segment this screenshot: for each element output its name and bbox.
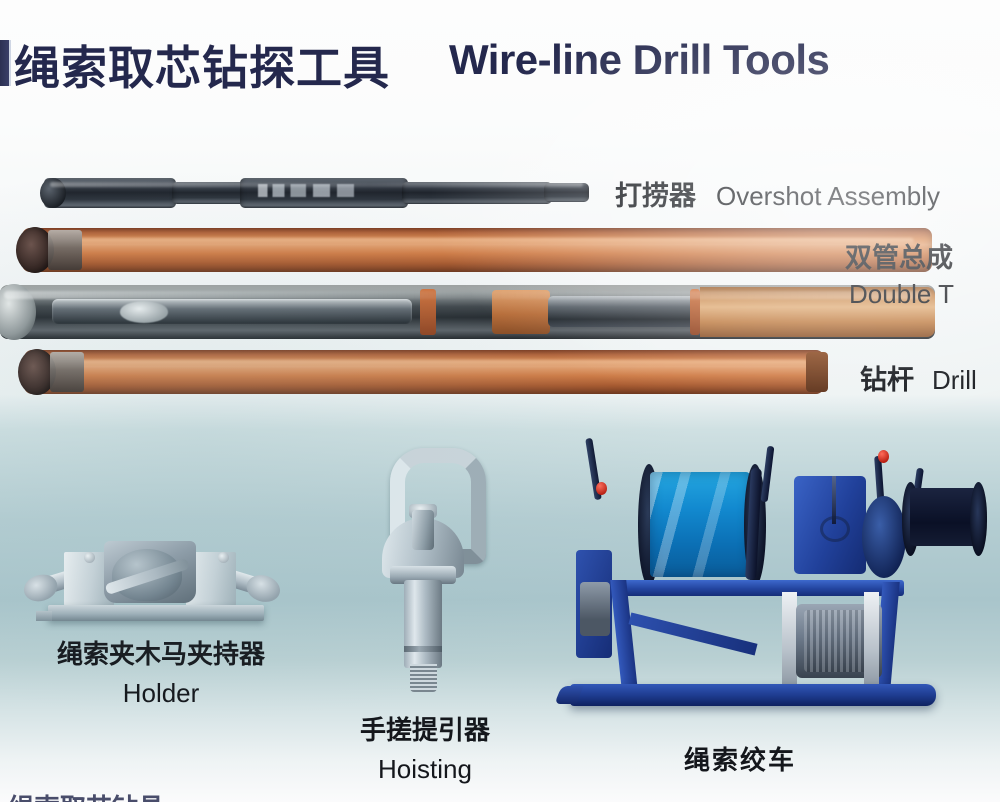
label-overshot-chinese: 打捞器 bbox=[615, 181, 696, 212]
label-hoisting-chinese: 手搓提引器 bbox=[330, 710, 520, 747]
hoisting-swivel-photo bbox=[368, 448, 478, 694]
label-overshot-assembly: 打捞器Overshot Assembly bbox=[615, 174, 940, 213]
label-drill-rod: 钻杆Drill bbox=[860, 358, 977, 397]
label-double-tube-english: Double T bbox=[849, 279, 954, 310]
label-double-tube: 双管总成 Double T bbox=[845, 236, 954, 310]
label-hoisting: 手搓提引器 Hoisting bbox=[330, 710, 520, 785]
label-drill-rod-english: Drill bbox=[932, 365, 977, 395]
title-accent-bar bbox=[0, 40, 11, 86]
winch-lever-knob-red-2 bbox=[878, 450, 889, 463]
overshot-assembly-photo bbox=[44, 178, 589, 208]
label-winch: 绳索绞车 bbox=[650, 740, 830, 777]
rope-clamp-holder-photo bbox=[22, 505, 292, 625]
page-title-english: Wire-line Drill Tools bbox=[449, 36, 829, 84]
drill-rod-photo bbox=[24, 350, 824, 394]
page-title: 绳索取芯钻探工具 Wire-line Drill Tools bbox=[0, 34, 1000, 96]
footer-clipped-text: 绳索取芯钻具 bbox=[8, 788, 164, 802]
winch-cable-drum bbox=[650, 472, 750, 577]
double-tube-cutaway-photo bbox=[0, 285, 935, 339]
poster-page: 绳索取芯钻探工具 Wire-line Drill Tools bbox=[0, 0, 1000, 802]
wire-line-winch-photo bbox=[558, 432, 1000, 730]
label-holder-english: Holder bbox=[36, 678, 286, 709]
double-tube-assembly-photo bbox=[22, 228, 932, 272]
label-overshot-english: Overshot Assembly bbox=[716, 181, 940, 211]
label-holder: 绳索夹木马夹持器 Holder bbox=[36, 634, 286, 709]
label-drill-rod-chinese: 钻杆 bbox=[860, 365, 914, 396]
label-holder-chinese: 绳索夹木马夹持器 bbox=[36, 634, 286, 671]
winch-lever-knob-red bbox=[596, 482, 607, 495]
label-double-tube-chinese: 双管总成 bbox=[845, 236, 954, 275]
label-hoisting-english: Hoisting bbox=[330, 754, 520, 785]
page-title-chinese: 绳索取芯钻探工具 bbox=[14, 32, 390, 98]
winch-handwheel bbox=[820, 516, 850, 542]
label-winch-chinese: 绳索绞车 bbox=[650, 740, 830, 777]
